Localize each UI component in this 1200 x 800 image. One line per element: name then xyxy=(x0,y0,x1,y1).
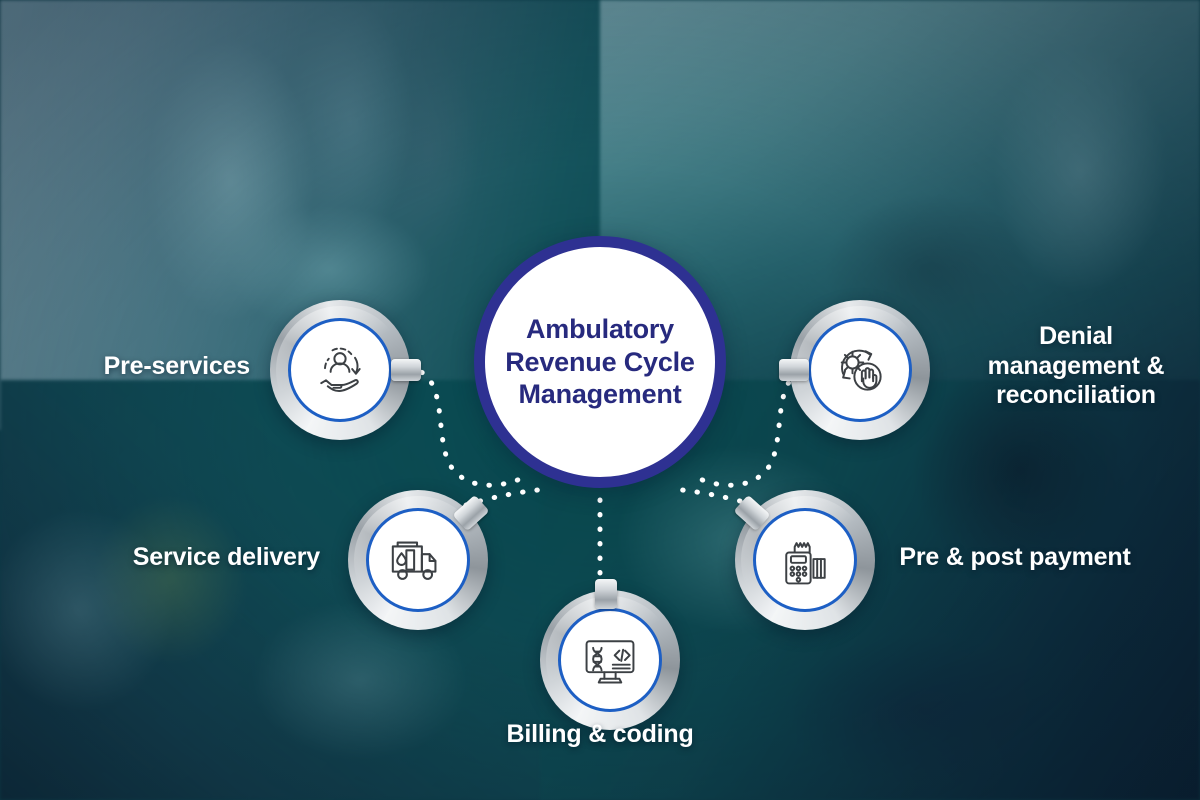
node-tab-pre-services xyxy=(391,359,421,381)
infographic-canvas: Ambulatory Revenue Cycle Management Pre-… xyxy=(0,0,1200,800)
node-inner-denial-management xyxy=(808,318,912,422)
hand-holding-person-cycle-icon xyxy=(310,340,370,400)
node-inner-pre-post-payment xyxy=(753,508,857,612)
hub-line-1: Ambulatory xyxy=(505,313,695,346)
node-pre-post-payment[interactable] xyxy=(735,490,875,630)
label-service-delivery: Service delivery xyxy=(90,543,320,573)
node-billing-coding[interactable] xyxy=(540,590,680,730)
label-billing-coding: Billing & coding xyxy=(450,720,750,750)
gear-hand-stop-cycle-icon xyxy=(830,340,890,400)
hub-line-3: Management xyxy=(505,378,695,411)
node-tab-billing-coding xyxy=(595,579,617,609)
node-pre-services[interactable] xyxy=(270,300,410,440)
label-pre-post-payment: Pre & post payment xyxy=(880,543,1150,573)
monitor-dna-code-icon xyxy=(580,630,640,690)
card-payment-terminal-icon xyxy=(775,530,835,590)
node-service-delivery[interactable] xyxy=(348,490,488,630)
label-denial-management: Denial management & reconciliation xyxy=(962,322,1190,411)
delivery-truck-droplet-icon xyxy=(387,529,449,591)
node-inner-pre-services xyxy=(288,318,392,422)
node-inner-service-delivery xyxy=(366,508,470,612)
center-hub[interactable]: Ambulatory Revenue Cycle Management xyxy=(474,236,726,488)
node-denial-management[interactable] xyxy=(790,300,930,440)
node-tab-denial-management xyxy=(779,359,809,381)
node-inner-billing-coding xyxy=(558,608,662,712)
center-hub-title: Ambulatory Revenue Cycle Management xyxy=(491,313,709,412)
label-pre-services: Pre-services xyxy=(60,352,250,382)
hub-line-2: Revenue Cycle xyxy=(505,346,695,379)
node-tab-service-delivery xyxy=(452,495,489,531)
